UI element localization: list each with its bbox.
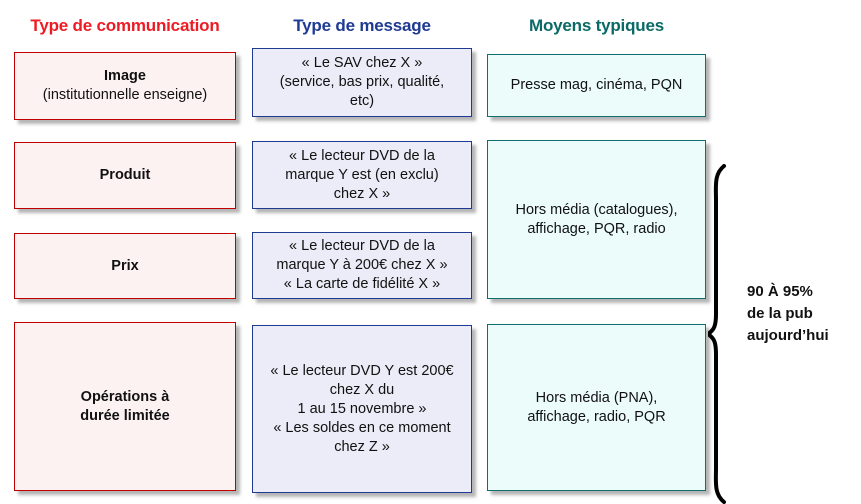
moyens-line: Hors média (catalogues), — [494, 201, 699, 220]
column-header-type-de-message: Type de message — [252, 16, 472, 36]
column-header-moyens-typiques: Moyens typiques — [487, 16, 706, 36]
message-line: marque Y est (en exclu) — [259, 166, 465, 185]
communication-box-prix: Prix — [14, 233, 236, 299]
moyens-box-operations: Hors média (PNA), affichage, radio, PQR — [487, 324, 706, 491]
communication-subtitle-image: (institutionnelle enseigne) — [21, 86, 229, 105]
communication-title-operations: Opérations à — [21, 388, 229, 407]
right-caption-line: aujourd’hui — [747, 325, 857, 347]
message-line: chez Z » — [259, 438, 465, 457]
message-line: « Le lecteur DVD de la — [259, 147, 465, 166]
message-line: etc) — [259, 92, 465, 111]
message-box-produit: « Le lecteur DVD de la marque Y est (en … — [252, 141, 472, 209]
message-line: chez X » — [259, 185, 465, 204]
message-line: 1 au 15 novembre » — [259, 400, 465, 419]
message-line: « Le lecteur DVD Y est 200€ — [259, 362, 465, 381]
message-line: « Le lecteur DVD de la — [259, 237, 465, 256]
column-header-type-de-communication: Type de communication — [14, 16, 236, 36]
moyens-line: affichage, radio, PQR — [494, 408, 699, 427]
message-line: « La carte de fidélité X » — [259, 275, 465, 294]
right-caption: 90 À 95% de la pub aujourd’hui — [747, 281, 857, 347]
message-box-operations: « Le lecteur DVD Y est 200€ chez X du 1 … — [252, 325, 472, 493]
moyens-box-image: Presse mag, cinéma, PQN — [487, 54, 706, 117]
moyens-line: Presse mag, cinéma, PQN — [494, 76, 699, 95]
communication-box-image: Image (institutionnelle enseigne) — [14, 52, 236, 120]
message-box-image: « Le SAV chez X » (service, bas prix, qu… — [252, 48, 472, 117]
message-line: « Le SAV chez X » — [259, 54, 465, 73]
moyens-line: affichage, PQR, radio — [494, 220, 699, 239]
communication-box-operations: Opérations à durée limitée — [14, 322, 236, 491]
communication-title-produit: Produit — [21, 166, 229, 185]
diagram-canvas: Type de communication Type de message Mo… — [0, 0, 861, 504]
message-line: (service, bas prix, qualité, — [259, 73, 465, 92]
communication-title-prix: Prix — [21, 257, 229, 276]
right-curly-brace-icon — [708, 164, 752, 504]
message-line: chez X du — [259, 381, 465, 400]
moyens-box-merged-produit-prix: Hors média (catalogues), affichage, PQR,… — [487, 140, 706, 299]
communication-title-image: Image — [21, 67, 229, 86]
message-box-prix: « Le lecteur DVD de la marque Y à 200€ c… — [252, 232, 472, 299]
right-caption-line: de la pub — [747, 303, 857, 325]
message-line: « Les soldes en ce moment — [259, 419, 465, 438]
message-line: marque Y à 200€ chez X » — [259, 256, 465, 275]
communication-title-operations-line2: durée limitée — [21, 407, 229, 426]
right-caption-line: 90 À 95% — [747, 281, 857, 303]
communication-box-produit: Produit — [14, 142, 236, 209]
moyens-line: Hors média (PNA), — [494, 389, 699, 408]
